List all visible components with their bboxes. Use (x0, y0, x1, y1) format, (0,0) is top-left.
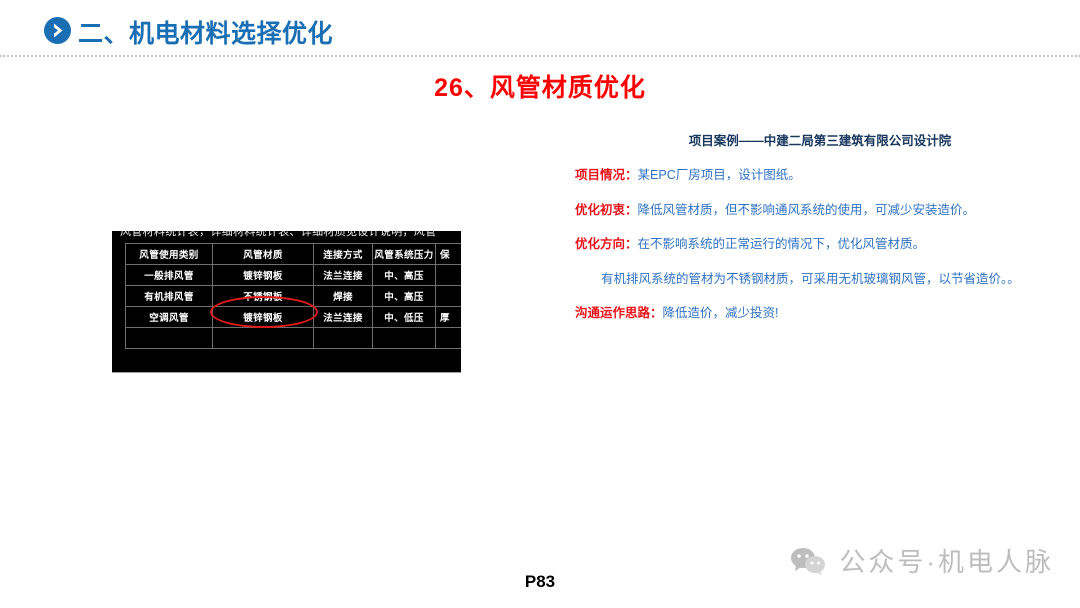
info-text: 某EPC厂房项目，设计图纸。 (638, 168, 801, 182)
cell-insulation (436, 328, 462, 349)
cell-usage: 空调风管 (126, 307, 213, 328)
info-label: 项目情况： (575, 168, 638, 182)
watermark-text: 公众号·机电人脉 (839, 542, 1054, 579)
cell-connection: 法兰连接 (314, 307, 373, 328)
cad-clipped-text: 风管材料统计表，详细材料统计表、详细材质见设计说明，风管 (120, 231, 461, 238)
info-row-communication-strategy: 沟通运作思路：降低造价，减少投资! (575, 305, 1045, 323)
column-header-usage: 风管使用类别 (126, 244, 213, 265)
info-row-optimization-direction: 优化方向：在不影响系统的正常运行的情况下，优化风管材质。 (575, 236, 1045, 254)
cell-insulation (436, 286, 462, 307)
header-divider (0, 55, 1080, 57)
cell-insulation: 厚 (436, 307, 462, 328)
page-title: 二、机电材料选择优化 (78, 14, 333, 50)
info-panel: 项目案例——中建二局第三建筑有限公司设计院 项目情况：某EPC厂房项目，设计图纸… (575, 130, 1045, 340)
cell-pressure: 中、高压 (373, 265, 436, 286)
info-text: 降低造价，减少投资! (663, 306, 779, 320)
table-row: 一般排风管 镀锌钢板 法兰连接 中、高压 (126, 265, 462, 286)
watermark: 公众号·机电人脉 (789, 542, 1054, 579)
cell-usage: 一般排风管 (126, 265, 213, 286)
wechat-icon (789, 546, 827, 576)
cell-connection: 焊接 (314, 286, 373, 307)
column-header-connection: 连接方式 (314, 244, 373, 265)
info-row-project-status: 项目情况：某EPC厂房项目，设计图纸。 (575, 167, 1045, 185)
cell-insulation (436, 265, 462, 286)
cell-material: 镀锌钢板 (213, 307, 314, 328)
column-header-material: 风管材质 (213, 244, 314, 265)
column-header-pressure: 风管系统压力 (373, 244, 436, 265)
slide-header: 二、机电材料选择优化 (0, 0, 1080, 52)
slide-subtitle: 26、风管材质优化 (0, 68, 1080, 104)
cell-pressure: 中、高压 (373, 286, 436, 307)
duct-material-table: 风管使用类别 风管材质 连接方式 风管系统压力 保 一般排风管 镀锌钢板 法兰连… (125, 243, 461, 349)
info-text: 在不影响系统的正常运行的情况下，优化风管材质。 (638, 237, 926, 251)
project-case-heading: 项目案例——中建二局第三建筑有限公司设计院 (575, 130, 1045, 149)
cell-material (213, 328, 314, 349)
cell-usage (126, 328, 213, 349)
table-header-row: 风管使用类别 风管材质 连接方式 风管系统压力 保 (126, 244, 462, 265)
cell-connection: 法兰连接 (314, 265, 373, 286)
cad-table-screenshot: 风管材料统计表，详细材料统计表、详细材质见设计说明，风管 风管使用类别 风管材质… (112, 231, 461, 373)
info-label: 优化方向： (575, 237, 638, 251)
chevron-right-circle-icon (44, 17, 71, 44)
cell-usage: 有机排风管 (126, 286, 213, 307)
cell-connection (314, 328, 373, 349)
column-header-insulation: 保 (436, 244, 462, 265)
info-label: 沟通运作思路： (575, 306, 663, 320)
cell-material-highlighted: 不锈钢板 (213, 286, 314, 307)
table-row: 空调风管 镀锌钢板 法兰连接 中、低压 厚 (126, 307, 462, 328)
info-text: 降低风管材质，但不影响通风系统的使用，可减少安装造价。 (638, 203, 976, 217)
cell-pressure (373, 328, 436, 349)
cell-material: 镀锌钢板 (213, 265, 314, 286)
info-text: 有机排风系统的管材为不锈钢材质，可采用无机玻璃钢风管，以节省造价。。 (601, 272, 1020, 286)
table-row: 有机排风管 不锈钢板 焊接 中、高压 (126, 286, 462, 307)
table-row-empty (126, 328, 462, 349)
cell-pressure: 中、低压 (373, 307, 436, 328)
info-label: 优化初衷： (575, 203, 638, 217)
info-row-optimization-intent: 优化初衷：降低风管材质，但不影响通风系统的使用，可减少安装造价。 (575, 202, 1045, 220)
info-row-detail: 有机排风系统的管材为不锈钢材质，可采用无机玻璃钢风管，以节省造价。。 (575, 271, 1045, 289)
